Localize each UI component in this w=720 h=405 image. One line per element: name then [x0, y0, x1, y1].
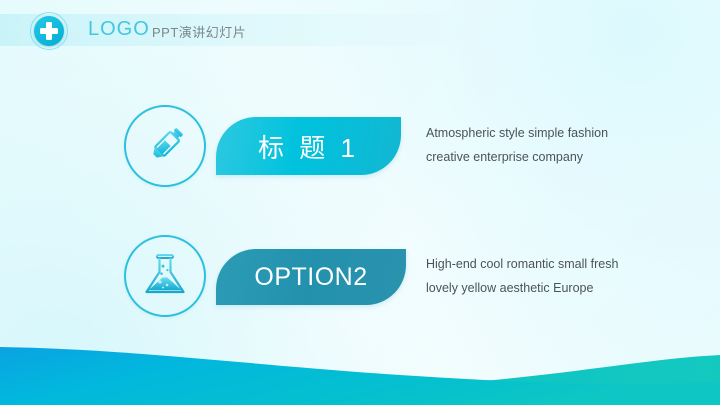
syringe-icon	[124, 105, 206, 187]
cross-horizontal-bar	[40, 28, 58, 34]
banner-label: 标 题 1	[258, 128, 359, 165]
presentation-slide: LOGO PPT演讲幻灯片	[0, 0, 720, 405]
banner-title-2[interactable]: OPTION2	[216, 249, 406, 305]
logo-text: LOGO	[88, 18, 150, 41]
description-2: High-end cool romantic small fresh lovel…	[426, 252, 626, 300]
header-subtitle: PPT演讲幻灯片	[152, 22, 246, 41]
flask-icon	[124, 235, 206, 317]
footer-wave-decoration	[0, 315, 720, 405]
logo-badge	[30, 12, 68, 50]
banner-label: OPTION2	[254, 263, 367, 292]
banner-title-1[interactable]: 标 题 1	[216, 117, 401, 175]
medical-cross-icon	[34, 16, 64, 46]
description-1: Atmospheric style simple fashion creativ…	[426, 121, 626, 169]
